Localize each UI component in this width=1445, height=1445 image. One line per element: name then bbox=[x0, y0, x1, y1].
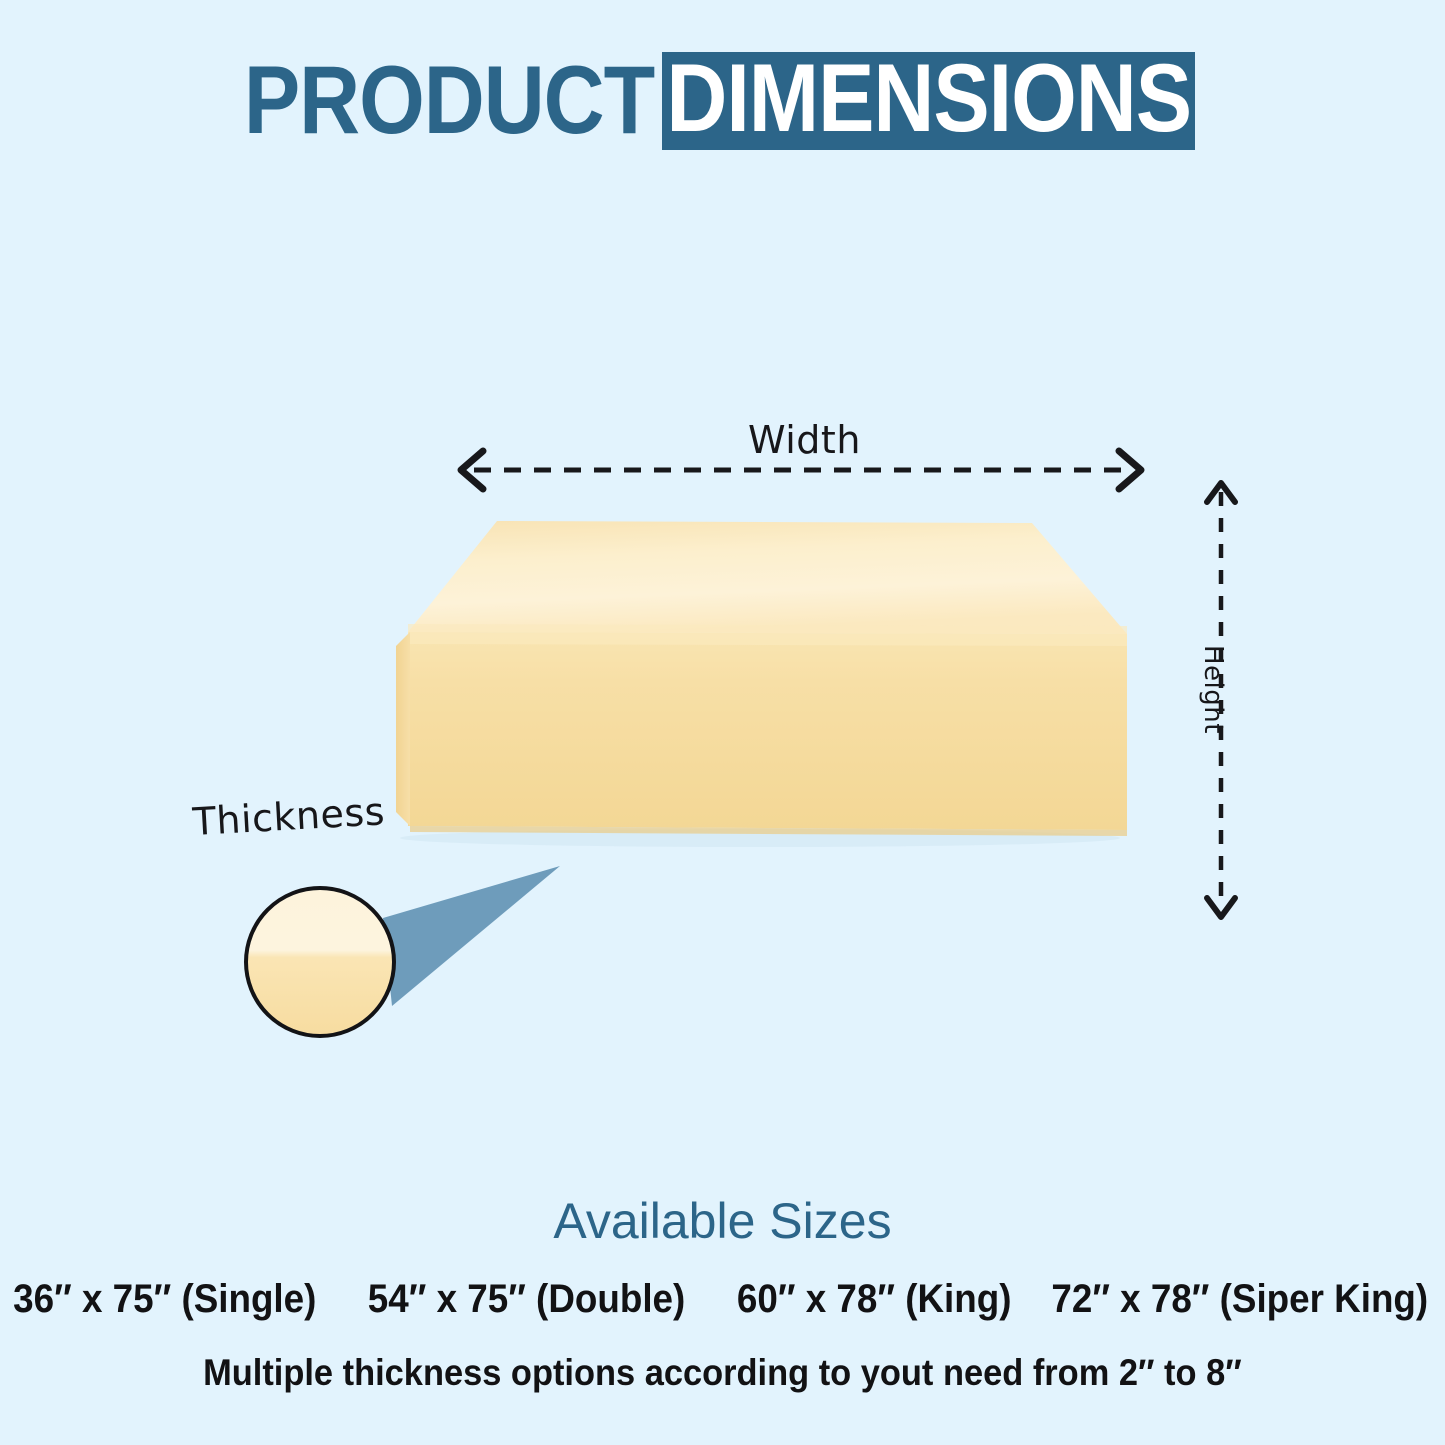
foam-front-face bbox=[408, 632, 1127, 830]
size-option-king: 60″ x 78″ (King) bbox=[737, 1277, 1012, 1322]
height-label: Height bbox=[1198, 645, 1228, 734]
thickness-options-note-text: Multiple thickness options according to … bbox=[203, 1352, 1242, 1394]
callout-connector-triangle bbox=[383, 866, 560, 1006]
size-option-double: 54″ x 75″ (Double) bbox=[367, 1277, 684, 1322]
available-sizes-list: 36″ x 75″ (Single) 54″ x 75″ (Double) 60… bbox=[0, 1277, 1445, 1322]
size-option-single: 36″ x 75″ (Single) bbox=[13, 1277, 316, 1322]
foam-block bbox=[396, 521, 1127, 847]
infographic-canvas: PRODUCT DIMENSIONS bbox=[0, 0, 1445, 1445]
thickness-callout bbox=[246, 866, 560, 1036]
foam-left-edge bbox=[396, 632, 410, 826]
callout-magnifier-circle bbox=[246, 888, 394, 1036]
size-option-super-king: 72″ x 78″ (Siper King) bbox=[1052, 1277, 1429, 1322]
width-label: Width bbox=[748, 418, 861, 462]
available-sizes-heading: Available Sizes bbox=[0, 1192, 1445, 1250]
foam-top-face bbox=[408, 521, 1127, 634]
thickness-options-note: Multiple thickness options according to … bbox=[0, 1352, 1445, 1394]
